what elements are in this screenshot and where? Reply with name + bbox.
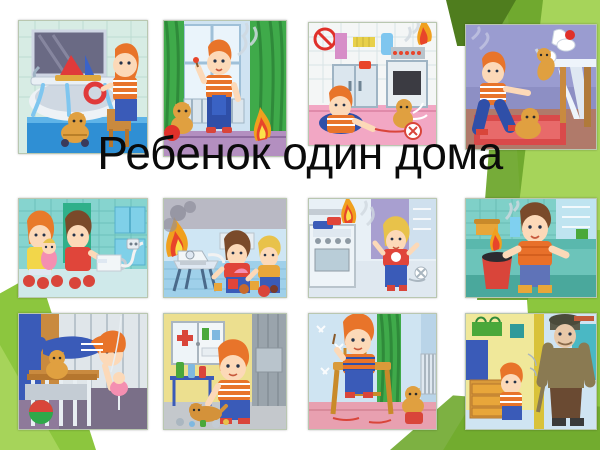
page-title: Ребенок один дома [0, 126, 600, 180]
picture-card-kettle-socket[interactable] [18, 198, 148, 298]
slide-canvas: Ребенок один дома [0, 0, 600, 450]
picture-card-stranger-at-door[interactable] [465, 313, 597, 430]
picture-card-balcony-lean[interactable] [18, 313, 148, 430]
picture-card-chair-at-window[interactable] [308, 313, 437, 430]
illustration-stranger-at-door [466, 314, 596, 429]
illustration-kettle-socket [19, 199, 147, 297]
illustration-medicine-cabinet [164, 314, 286, 429]
picture-card-burning-bucket[interactable] [465, 198, 597, 298]
illustration-burning-bucket [466, 199, 596, 297]
illustration-iron-fire [164, 199, 286, 297]
illustration-chair-at-window [309, 314, 436, 429]
picture-card-girl-burning-pot[interactable] [308, 198, 437, 298]
picture-card-medicine-cabinet[interactable] [163, 313, 287, 430]
illustration-balcony-lean [19, 314, 147, 429]
picture-card-iron-fire[interactable] [163, 198, 287, 298]
illustration-girl-burning-pot [309, 199, 436, 297]
